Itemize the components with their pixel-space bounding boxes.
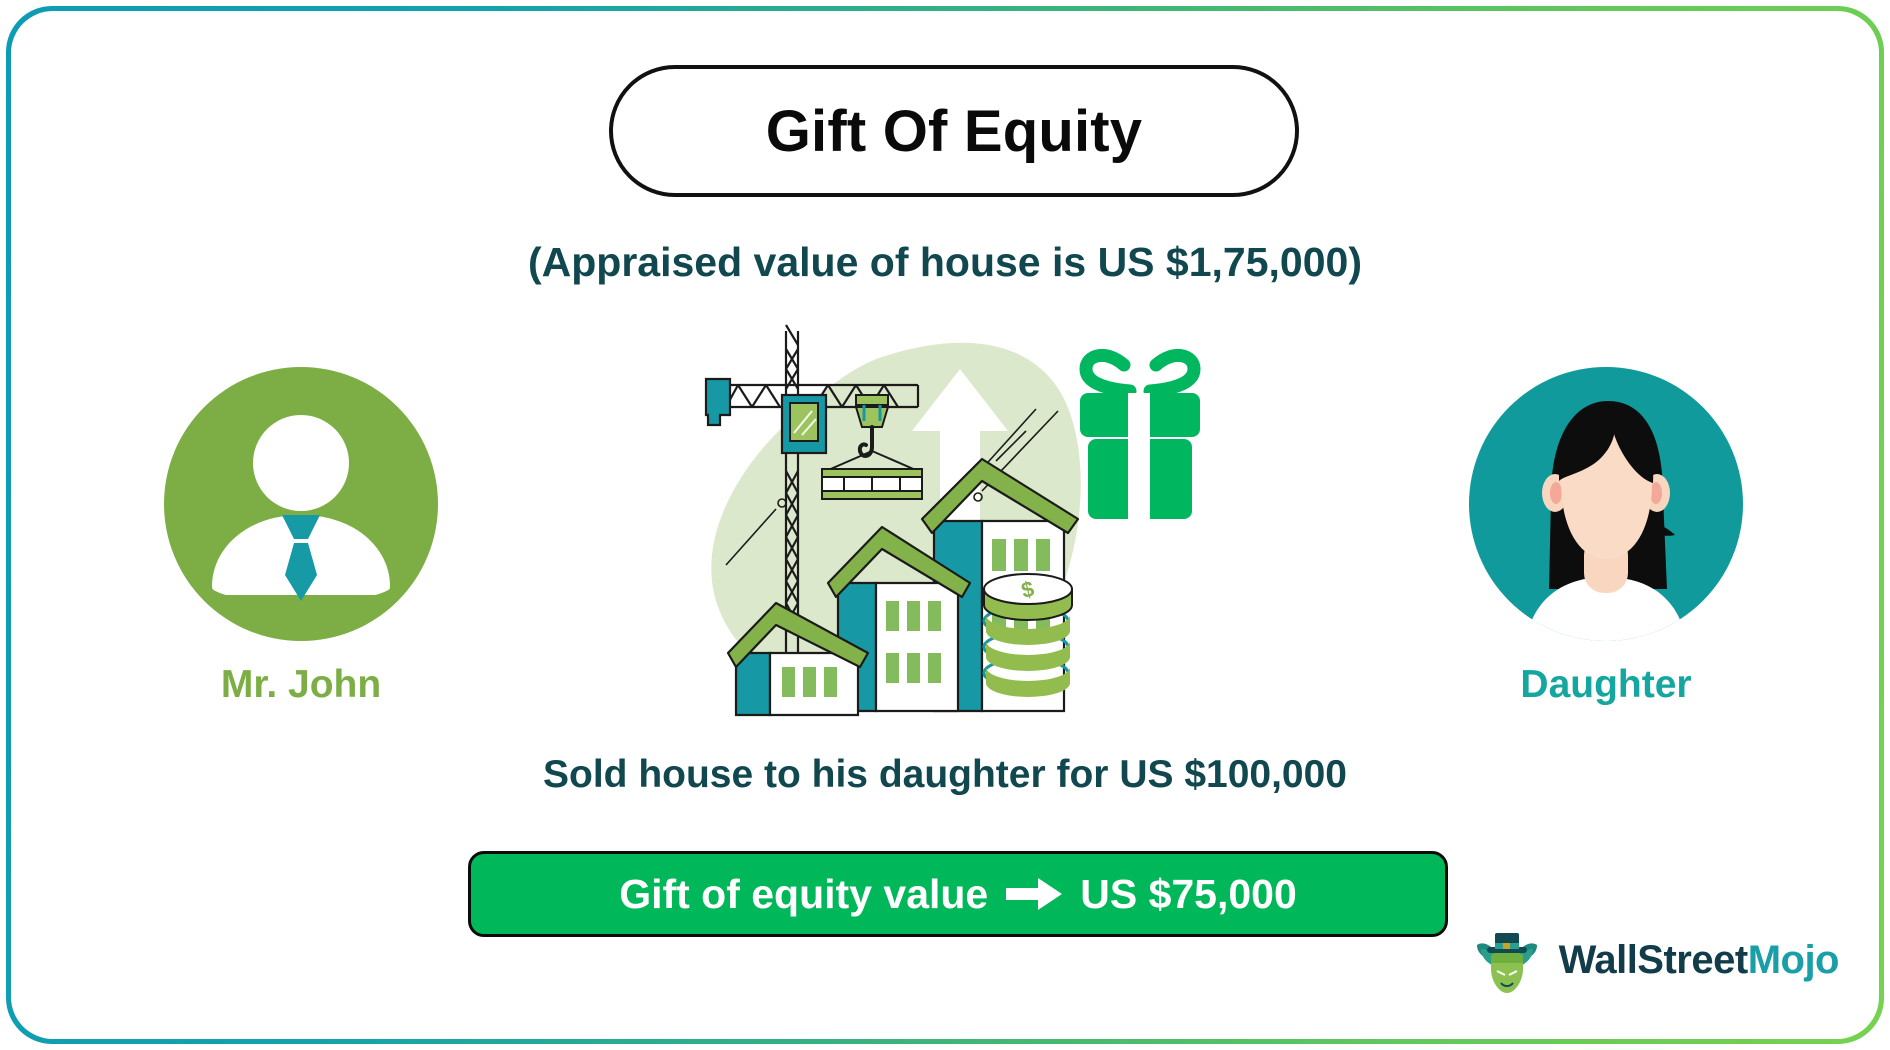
right-arrow-icon [1006, 877, 1062, 911]
crane-counterweight-icon [706, 379, 730, 425]
brand-name-primary: WallStreet [1559, 938, 1748, 982]
sale-statement: Sold house to his daughter for US $100,0… [11, 753, 1879, 797]
person-label-receiver: Daughter [1456, 663, 1756, 707]
gift-box-icon [1080, 355, 1200, 519]
gift-of-equity-result-banner: Gift of equity value US $75,000 [468, 851, 1448, 937]
woman-avatar-icon [1465, 363, 1747, 645]
result-value: US $75,000 [1080, 871, 1297, 918]
crane-cab-icon [782, 395, 826, 453]
infographic-outer-frame: Gift Of Equity (Appraised value of house… [6, 6, 1884, 1044]
result-label: Gift of equity value [619, 871, 988, 918]
bull-with-tophat-logo-icon [1469, 923, 1545, 997]
houses-crane-gift-illustration: $ [686, 311, 1266, 731]
person-block-receiver: Daughter [1456, 363, 1756, 707]
page-title: Gift Of Equity [766, 98, 1143, 165]
appraised-value-subtitle: (Appraised value of house is US $1,75,00… [11, 239, 1879, 286]
infographic-canvas: Gift Of Equity (Appraised value of house… [11, 11, 1879, 1039]
person-label-giver: Mr. John [151, 663, 451, 707]
person-block-giver: Mr. John [151, 363, 451, 707]
brand-name-secondary: Mojo [1748, 938, 1839, 982]
brand-logo: WallStreetMojo [1469, 923, 1839, 997]
brand-name: WallStreetMojo [1559, 938, 1839, 983]
man-avatar-icon [160, 363, 442, 645]
page-title-pill: Gift Of Equity [609, 65, 1299, 197]
